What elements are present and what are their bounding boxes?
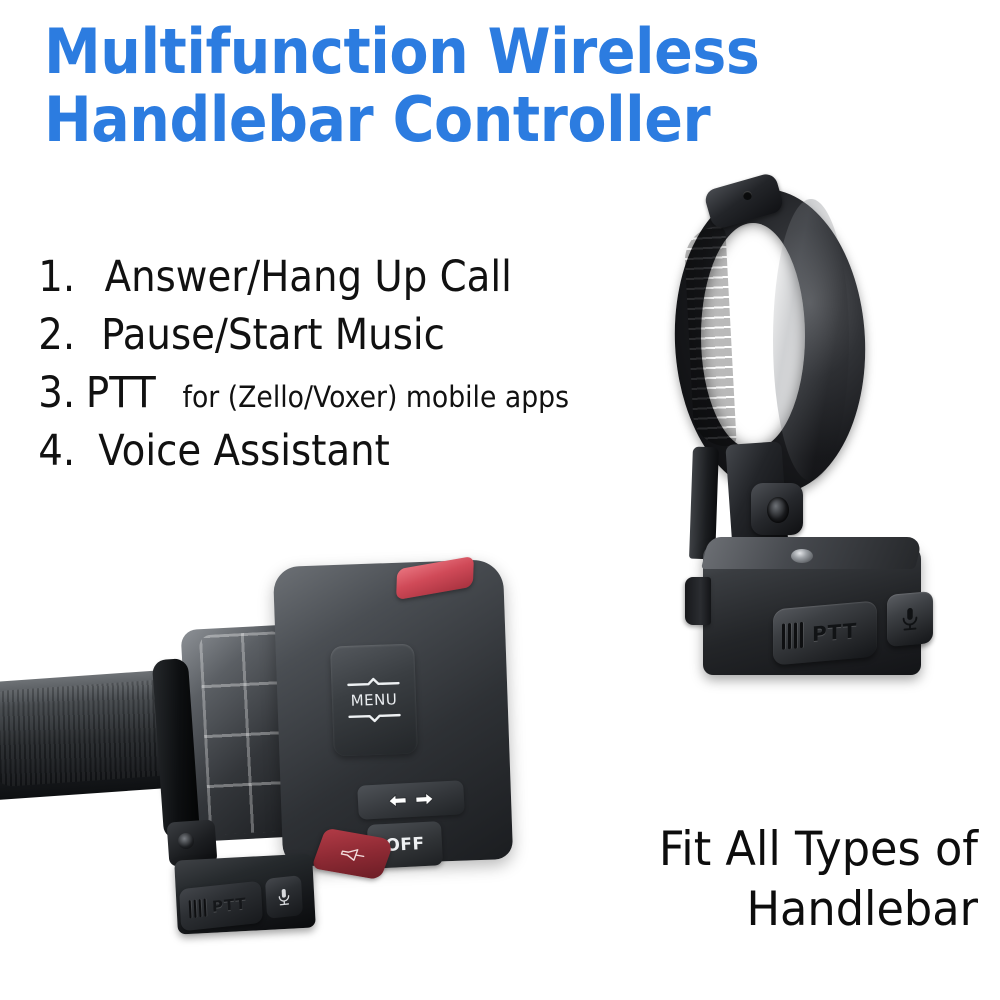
menu-button[interactable]: MENU bbox=[330, 644, 418, 757]
list-item: 3. PTT for (Zello/Voxer) mobile apps bbox=[36, 368, 676, 426]
horn-icon bbox=[338, 845, 368, 863]
list-item-label: PTT bbox=[86, 368, 156, 418]
ptt-grip-ribs-icon bbox=[782, 622, 803, 650]
chevron-up-icon bbox=[346, 676, 400, 688]
off-button-label: OFF bbox=[385, 834, 425, 856]
ptt-grip-ribs-icon bbox=[189, 899, 207, 919]
ptt-button-label: PTT bbox=[812, 618, 857, 646]
list-item-number: 3. bbox=[38, 368, 79, 418]
mounted-ptt-button-label: PTT bbox=[212, 894, 248, 916]
page-title: Multifunction Wireless Handlebar Control… bbox=[44, 18, 944, 154]
mounted-clamp-hole bbox=[178, 833, 194, 849]
feature-list: 1. Answer/Hang Up Call 2. Pause/Start Mu… bbox=[36, 252, 676, 484]
arrow-left-icon bbox=[388, 792, 409, 809]
list-item-suffix: for (Zello/Voxer) mobile apps bbox=[177, 380, 569, 414]
arrow-right-icon bbox=[414, 791, 435, 808]
list-item-label: Voice Assistant bbox=[98, 426, 390, 476]
list-item-label: Pause/Start Music bbox=[101, 310, 445, 360]
microphone-icon bbox=[276, 886, 293, 908]
tagline-line-2: Handlebar bbox=[532, 880, 979, 940]
title-line-1: Multifunction Wireless bbox=[44, 18, 872, 86]
list-item-number: 2. bbox=[38, 310, 79, 360]
product-marketing-image: Multifunction Wireless Handlebar Control… bbox=[0, 0, 1000, 1000]
product-photo: PTT bbox=[655, 185, 955, 685]
microphone-icon bbox=[899, 605, 921, 633]
clamp-hinge-pin bbox=[743, 191, 752, 200]
mounted-ptt-button[interactable]: PTT bbox=[179, 881, 263, 932]
body-screw bbox=[791, 549, 813, 563]
menu-button-label: MENU bbox=[350, 690, 397, 710]
mount-bracket-hole bbox=[767, 497, 789, 523]
tagline: Fit All Types of Handlebar bbox=[532, 820, 979, 940]
ptt-button[interactable]: PTT bbox=[773, 600, 877, 665]
list-item: 1. Answer/Hang Up Call bbox=[36, 252, 676, 310]
mounted-mic-button[interactable] bbox=[265, 875, 303, 919]
mic-button[interactable] bbox=[887, 591, 933, 647]
list-item-number: 4. bbox=[38, 426, 79, 476]
tagline-line-1: Fit All Types of bbox=[532, 820, 979, 880]
list-item: 4. Voice Assistant bbox=[36, 426, 676, 484]
side-button[interactable] bbox=[685, 577, 711, 625]
list-item: 2. Pause/Start Music bbox=[36, 310, 676, 368]
turn-signal-button[interactable] bbox=[357, 780, 465, 820]
title-line-2: Handlebar Controller bbox=[44, 86, 872, 154]
handlebar-photo: MENU OFF bbox=[0, 545, 530, 965]
chevron-down-icon bbox=[347, 712, 401, 724]
list-item-label: Answer/Hang Up Call bbox=[105, 252, 512, 302]
list-item-number: 1. bbox=[38, 252, 79, 302]
